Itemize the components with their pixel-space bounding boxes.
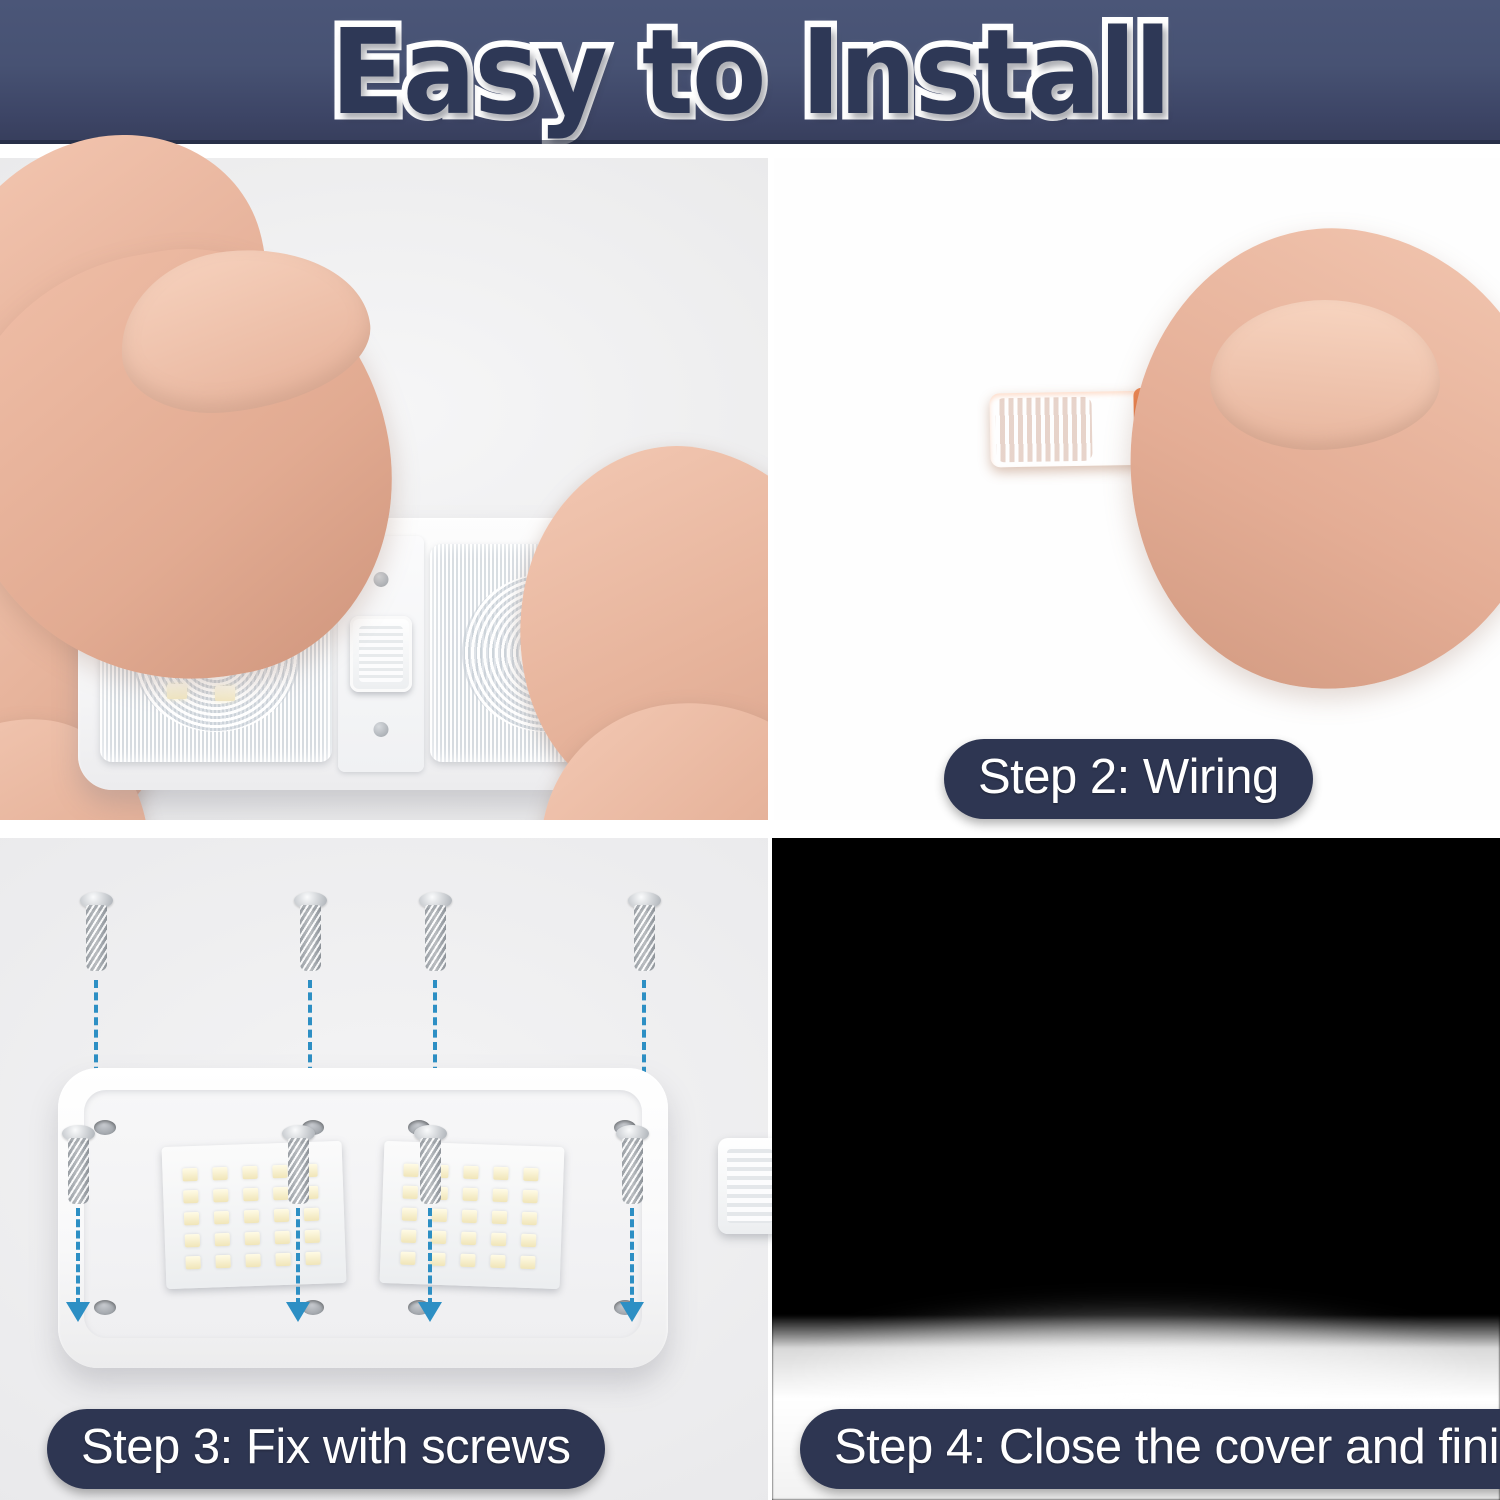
screw-hole: [94, 1300, 116, 1315]
led-chip: [182, 1168, 197, 1182]
led-chip: [245, 1232, 260, 1246]
led-chip: [522, 1212, 537, 1226]
led-chip: [400, 1252, 415, 1266]
led-chip: [493, 1167, 508, 1181]
led-chip: [490, 1255, 505, 1269]
screw-guide-line: [76, 1208, 80, 1306]
led-chip: [184, 1212, 199, 1226]
led-chip: [520, 1256, 535, 1270]
led-chip: [402, 1208, 417, 1222]
led-chip: [242, 1166, 257, 1180]
led-chip: [273, 1187, 288, 1201]
mounting-screw: [420, 1138, 441, 1204]
guide-arrow-head-icon: [418, 1302, 442, 1322]
mounting-screw: [86, 905, 107, 971]
guide-arrow-head-icon: [286, 1302, 310, 1322]
led-chip: [304, 1208, 319, 1222]
led-chip: [431, 1231, 446, 1245]
mounting-screw: [288, 1138, 309, 1204]
led-chip: [215, 1255, 230, 1269]
led-chip: [244, 1210, 259, 1224]
led-chip: [432, 1209, 447, 1223]
led-chip: [274, 1209, 289, 1223]
led-chip: [245, 1254, 260, 1268]
led-chip: [183, 1190, 198, 1204]
guide-arrow-head-icon: [620, 1302, 644, 1322]
led-chip: [461, 1232, 476, 1246]
led-chip: [185, 1234, 200, 1248]
led-chip: [462, 1188, 477, 1202]
led-chip: [403, 1164, 418, 1178]
led-chip: [272, 1165, 287, 1179]
led-chip: [185, 1256, 200, 1270]
screw-guide-line: [630, 1208, 634, 1306]
easy-to-install-infographic: Easy to Install: [0, 0, 1500, 1500]
mounting-screw: [634, 905, 655, 971]
mounting-screw: [68, 1138, 89, 1204]
led-chip: [462, 1210, 477, 1224]
led-chip: [275, 1231, 290, 1245]
mount-screw-top: [374, 572, 389, 587]
step-4-label: Step 4: Close the cover and finish: [800, 1409, 1500, 1489]
led-chip: [460, 1254, 475, 1268]
led-chip: [492, 1211, 507, 1225]
left-led-board: [162, 1141, 347, 1289]
step-4-photo: Step 4: Close the cover and finish: [772, 838, 1500, 1500]
mounting-screw: [622, 1138, 643, 1204]
led-chip: [403, 1186, 418, 1200]
led-chip: [521, 1234, 536, 1248]
right-led-board: [380, 1141, 565, 1289]
led-chip: [212, 1167, 227, 1181]
led-chip: [463, 1166, 478, 1180]
step-2-label: Step 2: Wiring: [944, 739, 1313, 819]
screw-guide-line: [428, 1208, 432, 1306]
mounting-screw: [425, 905, 446, 971]
header-banner: Easy to Install: [0, 0, 1500, 144]
guide-arrow-head-icon: [66, 1302, 90, 1322]
led-chip: [430, 1253, 445, 1267]
led-chip: [215, 686, 235, 701]
led-chip: [243, 1188, 258, 1202]
led-chip: [523, 1168, 538, 1182]
led-chip: [401, 1230, 416, 1244]
led-chip: [492, 1189, 507, 1203]
led-chip: [491, 1233, 506, 1247]
step-3-label: Step 3: Fix with screws: [47, 1409, 605, 1489]
mount-screw-bottom: [374, 722, 389, 737]
led-chip: [275, 1253, 290, 1267]
mounting-screw: [300, 905, 321, 971]
led-chip: [522, 1190, 537, 1204]
rocker-switch: [350, 616, 412, 692]
led-chip: [167, 684, 187, 699]
led-chip: [215, 1233, 230, 1247]
led-chip: [213, 1189, 228, 1203]
led-chip: [305, 1252, 320, 1266]
light-base-plate: [58, 1068, 668, 1368]
led-chip: [214, 1211, 229, 1225]
screw-hole: [94, 1120, 116, 1135]
page-title: Easy to Install: [330, 13, 1169, 131]
screw-guide-line: [296, 1208, 300, 1306]
led-chip: [305, 1230, 320, 1244]
